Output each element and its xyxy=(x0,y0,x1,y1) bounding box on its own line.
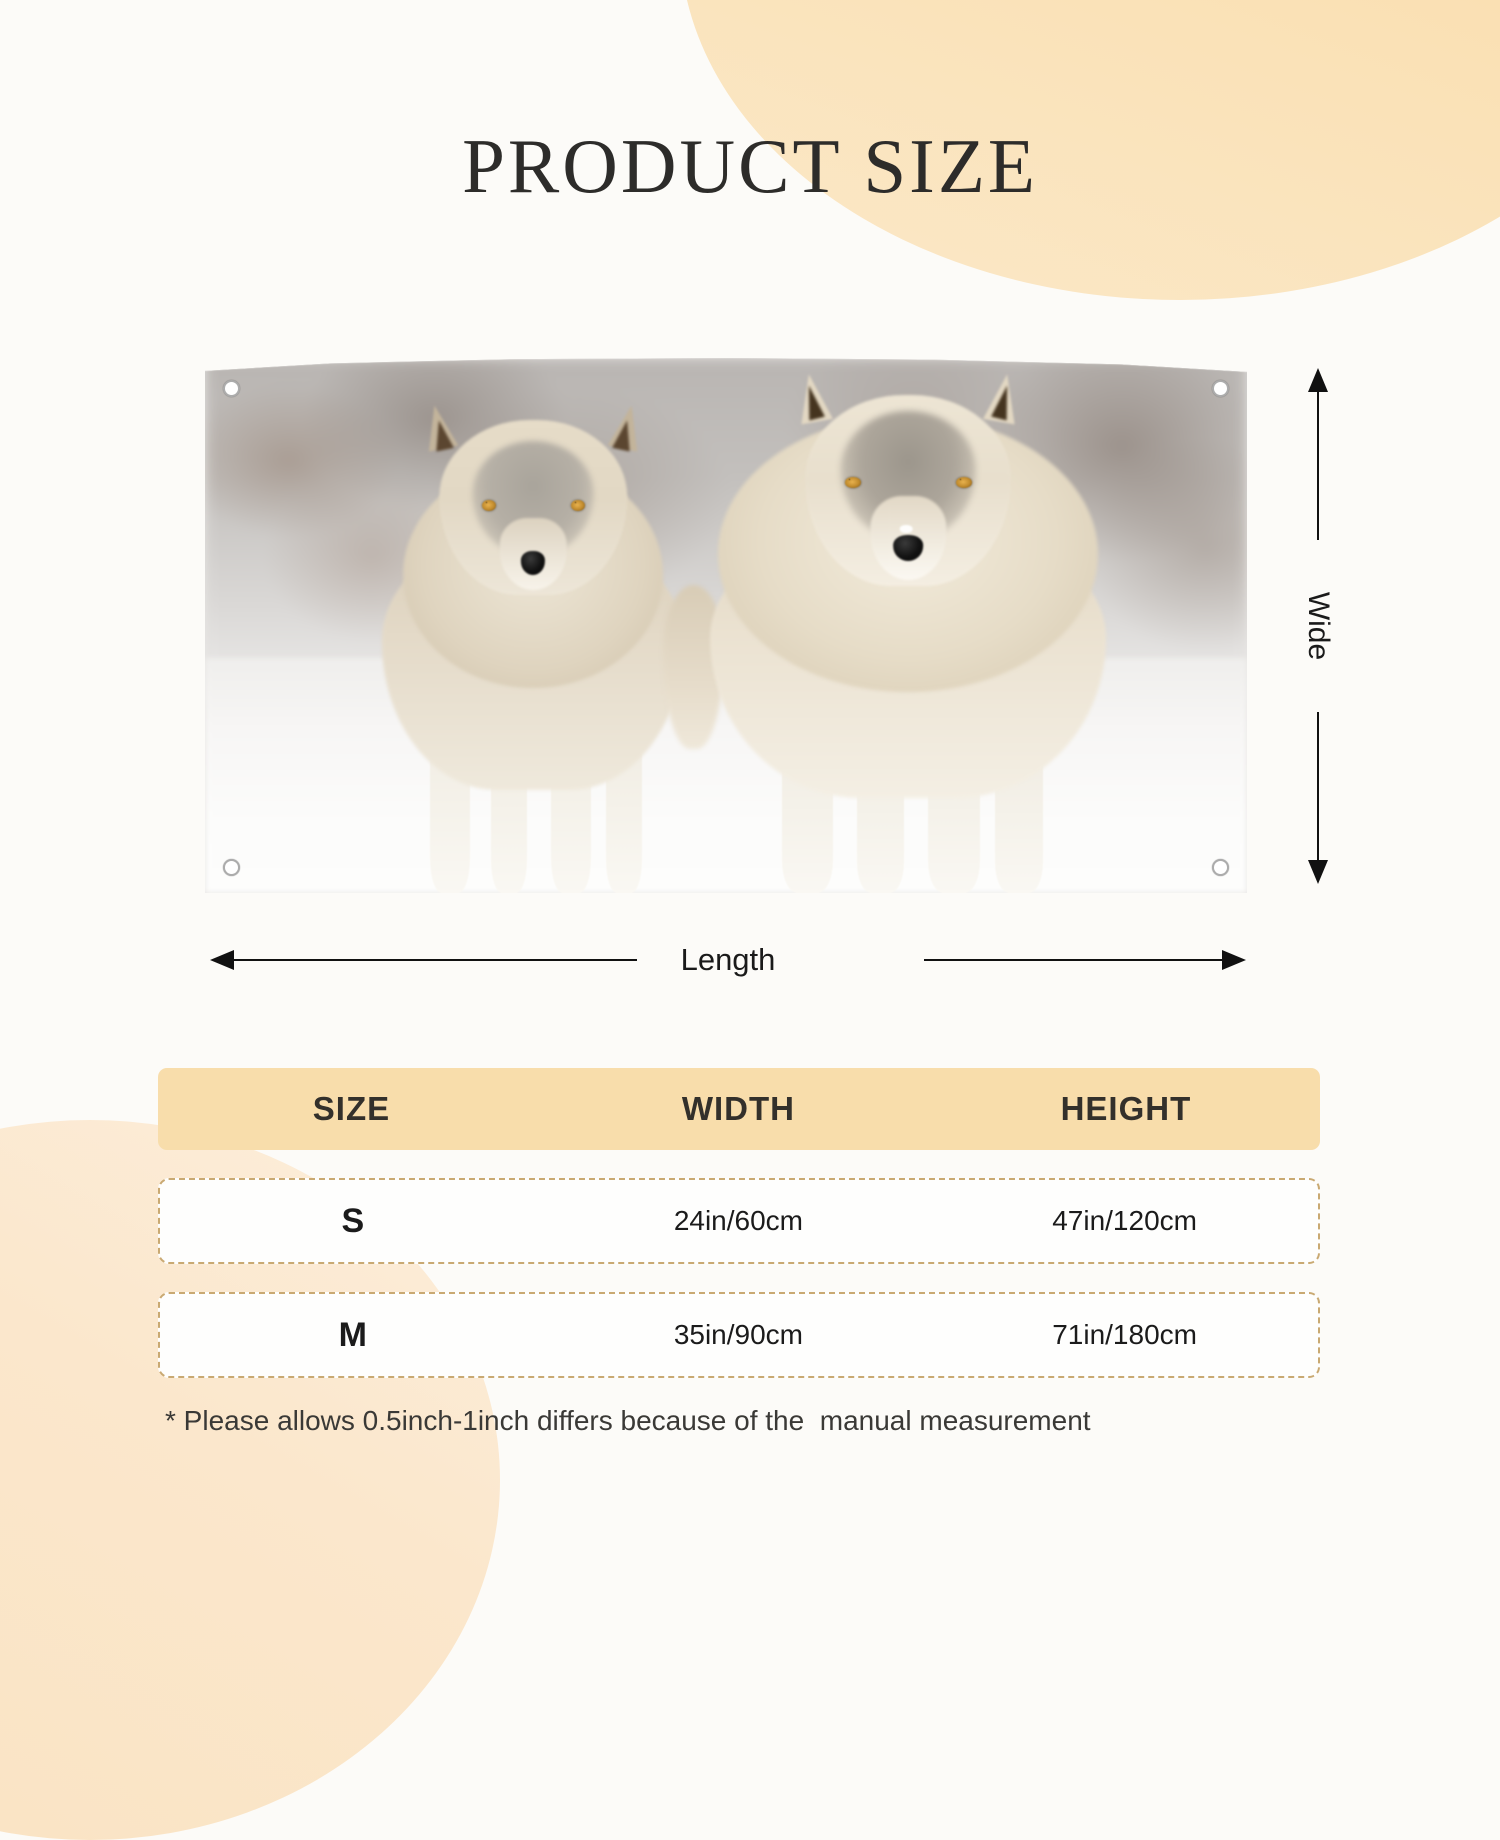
table-header-row: SIZE WIDTH HEIGHT xyxy=(158,1068,1320,1150)
cell-size: M xyxy=(160,1316,546,1355)
wolf-right xyxy=(710,363,1106,893)
cell-width: 35in/90cm xyxy=(546,1319,932,1351)
wolf-right-eye-right xyxy=(956,477,972,488)
arrow-head-up-icon xyxy=(1308,368,1328,392)
wolf-left-eye-right xyxy=(571,500,585,511)
table-row: S 24in/60cm 47in/120cm xyxy=(158,1178,1320,1264)
wolf-right-eye-left xyxy=(845,477,861,488)
grommet-bottom-left xyxy=(223,859,240,876)
cell-height: 47in/120cm xyxy=(931,1205,1318,1237)
grommet-bottom-right xyxy=(1212,859,1229,876)
cell-height: 71in/180cm xyxy=(931,1319,1318,1351)
wide-dimension-arrow: Wide xyxy=(1288,368,1348,884)
arrow-head-left-icon xyxy=(210,950,234,970)
header-size: SIZE xyxy=(158,1090,545,1128)
page-title: PRODUCT SIZE xyxy=(0,122,1500,211)
wolf-left-eye-left xyxy=(482,500,496,511)
header-height: HEIGHT xyxy=(932,1090,1320,1128)
arrow-head-down-icon xyxy=(1308,860,1328,884)
size-table: SIZE WIDTH HEIGHT S 24in/60cm 47in/120cm… xyxy=(158,1068,1320,1378)
banner-artwork xyxy=(205,358,1247,893)
measurement-footnote: * Please allows 0.5inch-1inch differs be… xyxy=(165,1405,1091,1437)
cell-size: S xyxy=(160,1202,546,1241)
grommet-top-left xyxy=(223,380,240,397)
table-row: M 35in/90cm 71in/180cm xyxy=(158,1292,1320,1378)
length-label: Length xyxy=(671,942,786,978)
arrow-shaft-bottom xyxy=(1317,712,1319,862)
arrow-head-right-icon xyxy=(1222,950,1246,970)
grommet-top-right xyxy=(1212,380,1229,397)
arrow-shaft-right xyxy=(924,959,1224,961)
wolf-left xyxy=(382,379,684,893)
product-preview xyxy=(205,358,1247,893)
header-width: WIDTH xyxy=(545,1090,932,1128)
arrow-shaft-top xyxy=(1317,390,1319,540)
wide-label: Wide xyxy=(1301,592,1335,660)
arrow-shaft-left xyxy=(232,959,637,961)
cell-width: 24in/60cm xyxy=(546,1205,932,1237)
length-dimension-arrow: Length xyxy=(210,930,1246,990)
